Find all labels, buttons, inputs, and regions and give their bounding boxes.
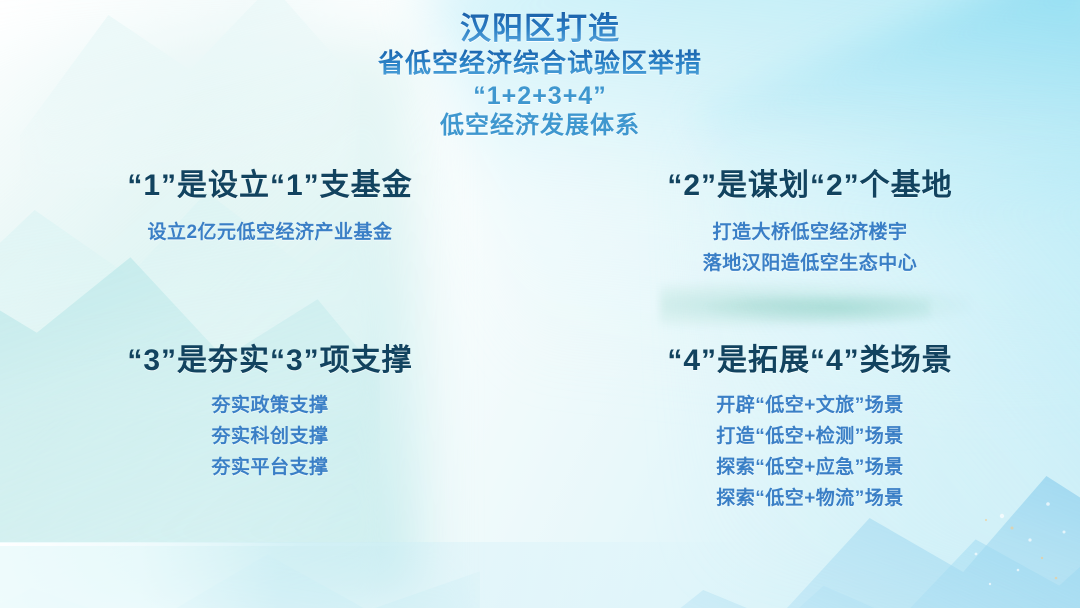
list-item: 开辟“低空+文旅”场景	[566, 391, 1054, 422]
section-supports: “3”是夯实“3”项支撑 夯实政策支撑 夯实科创支撑 夯实平台支撑	[0, 333, 540, 568]
title-line-1: 汉阳区打造	[0, 12, 1080, 47]
section-item-list: 夯实政策支撑 夯实科创支撑 夯实平台支撑	[26, 391, 514, 483]
section-item-list: 打造大桥低空经济楼宇 落地汉阳造低空生态中心	[566, 218, 1054, 280]
list-item: 打造大桥低空经济楼宇	[566, 218, 1054, 249]
section-heading: “3”是夯实“3”项支撑	[26, 343, 514, 379]
list-item: 探索“低空+物流”场景	[566, 484, 1054, 515]
section-item-list: 设立2亿元低空经济产业基金	[26, 218, 514, 249]
list-item: 打造“低空+检测”场景	[566, 422, 1054, 453]
section-fund: “1”是设立“1”支基金 设立2亿元低空经济产业基金	[0, 168, 540, 333]
infographic-poster: 汉阳区打造 省低空经济综合试验区举措 “1+2+3+4” 低空经济发展体系 “1…	[0, 0, 1080, 608]
sections-grid: “1”是设立“1”支基金 设立2亿元低空经济产业基金 “2”是谋划“2”个基地 …	[0, 168, 1080, 568]
section-heading: “1”是设立“1”支基金	[26, 168, 514, 204]
list-item: 夯实政策支撑	[26, 391, 514, 422]
poster-title-block: 汉阳区打造 省低空经济综合试验区举措 “1+2+3+4” 低空经济发展体系	[0, 12, 1080, 140]
list-item: 夯实科创支撑	[26, 422, 514, 453]
section-scenarios: “4”是拓展“4”类场景 开辟“低空+文旅”场景 打造“低空+检测”场景 探索“…	[540, 333, 1080, 568]
title-line-4: 低空经济发展体系	[0, 113, 1080, 140]
section-heading: “4”是拓展“4”类场景	[566, 343, 1054, 379]
title-line-2: 省低空经济综合试验区举措	[0, 49, 1080, 78]
section-bases: “2”是谋划“2”个基地 打造大桥低空经济楼宇 落地汉阳造低空生态中心	[540, 168, 1080, 333]
list-item: 夯实平台支撑	[26, 453, 514, 484]
section-item-list: 开辟“低空+文旅”场景 打造“低空+检测”场景 探索“低空+应急”场景 探索“低…	[566, 391, 1054, 514]
list-item: 落地汉阳造低空生态中心	[566, 249, 1054, 280]
title-line-3: “1+2+3+4”	[0, 82, 1080, 110]
list-item: 设立2亿元低空经济产业基金	[26, 218, 514, 249]
section-heading: “2”是谋划“2”个基地	[566, 168, 1054, 204]
list-item: 探索“低空+应急”场景	[566, 453, 1054, 484]
